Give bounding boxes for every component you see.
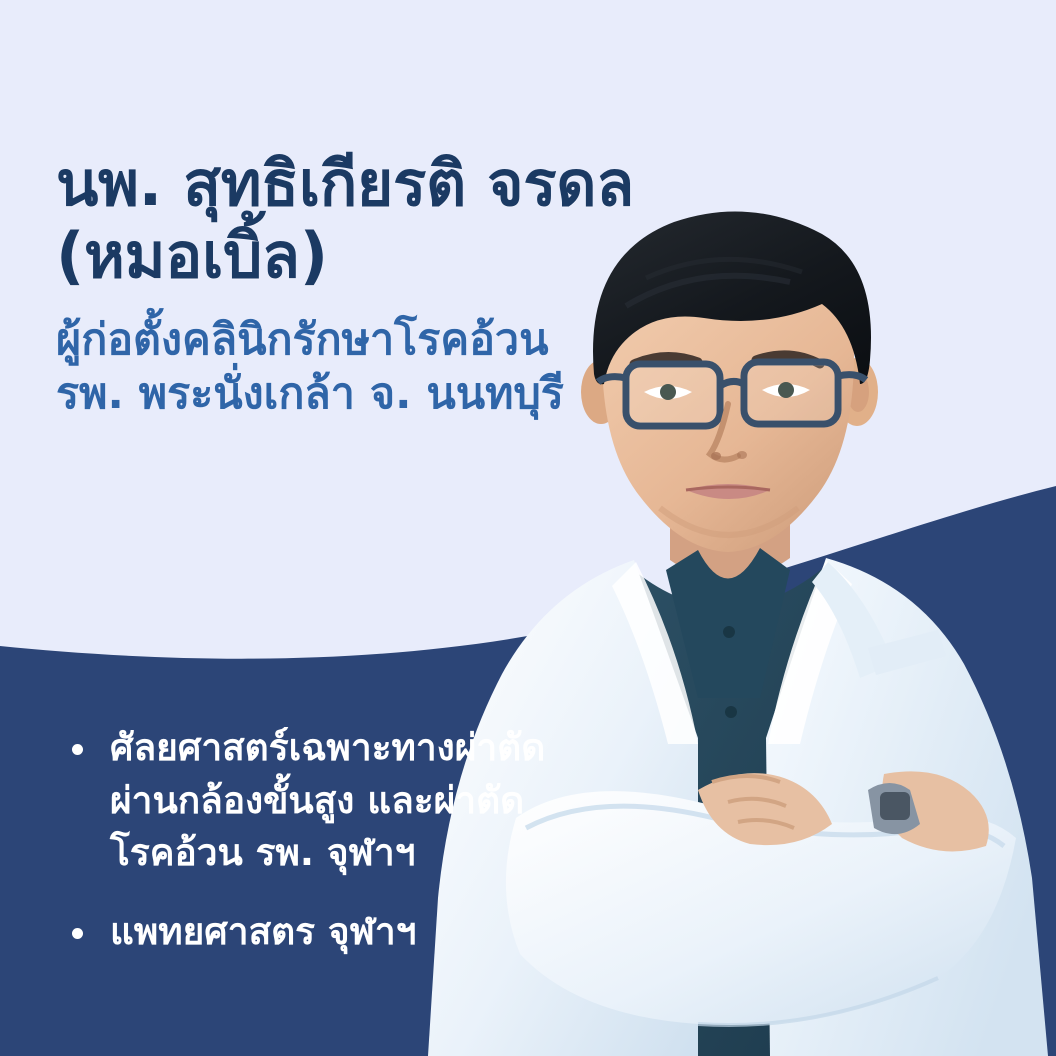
credential-text: แพทยศาสตร จุฬาฯ bbox=[110, 910, 416, 953]
bullet-dot-icon bbox=[72, 928, 83, 939]
doctor-name-line1: นพ. สุทธิเกียรติ จรดล bbox=[56, 147, 634, 220]
list-item: ศัลยศาสตร์เฉพาะทางผ่าตัดผ่านกล้องขั้นสูง… bbox=[66, 722, 566, 880]
doctor-nickname-line2: (หมอเบิ้ล) bbox=[56, 220, 696, 292]
doctor-role: ผู้ก่อตั้งคลินิกรักษาโรคอ้วน รพ. พระนั่ง… bbox=[56, 314, 696, 422]
doctor-name: นพ. สุทธิเกียรติ จรดล (หมอเบิ้ล) bbox=[56, 148, 696, 292]
credentials-list: ศัลยศาสตร์เฉพาะทางผ่าตัดผ่านกล้องขั้นสูง… bbox=[66, 722, 566, 984]
list-item: แพทยศาสตร จุฬาฯ bbox=[66, 906, 566, 959]
bullet-dot-icon bbox=[72, 744, 83, 755]
doctor-profile-card: นพ. สุทธิเกียรติ จรดล (หมอเบิ้ล) ผู้ก่อต… bbox=[0, 0, 1056, 1056]
credential-text: ศัลยศาสตร์เฉพาะทางผ่าตัดผ่านกล้องขั้นสูง… bbox=[110, 726, 545, 874]
header-text-block: นพ. สุทธิเกียรติ จรดล (หมอเบิ้ล) ผู้ก่อต… bbox=[56, 148, 696, 421]
doctor-role-line1: ผู้ก่อตั้งคลินิกรักษาโรคอ้วน bbox=[56, 314, 696, 368]
doctor-role-line2: รพ. พระนั่งเกล้า จ. นนทบุรี bbox=[56, 368, 696, 422]
